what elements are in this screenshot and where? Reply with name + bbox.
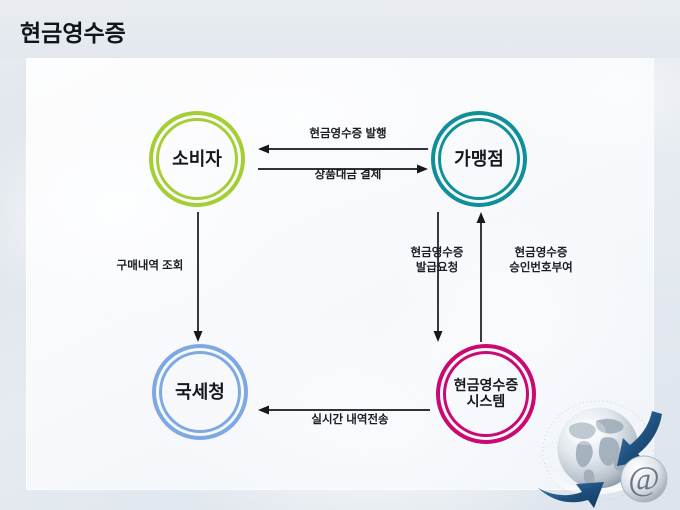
flow-label-realtime: 실시간 내역전송 (275, 413, 425, 428)
page-title: 현금영수증 (20, 14, 126, 48)
node-consumer[interactable]: 소비자 (149, 111, 245, 207)
node-nts[interactable]: 국세청 (152, 344, 248, 440)
node-system[interactable]: 현금영수증 시스템 (436, 344, 536, 444)
node-system-label: 현금영수증 시스템 (454, 378, 518, 409)
flow-label-issue: 현금영수증 발행 (268, 127, 428, 142)
node-merchant-label: 가맹점 (454, 149, 504, 169)
flow-label-payment: 상품대금 결제 (268, 168, 428, 183)
flow-label-inquiry: 구매내역 조회 (95, 259, 205, 274)
node-merchant[interactable]: 가맹점 (431, 111, 527, 207)
node-nts-label: 국세청 (175, 382, 225, 402)
slide-canvas: 현금영수증 소비자 가맹점 국세청 현금영수증 시스템 (0, 0, 680, 510)
flow-label-approve: 현금영수증 승인번호부여 (489, 246, 593, 276)
node-consumer-label: 소비자 (172, 149, 222, 169)
flow-label-request: 현금영수증 발급요청 (385, 246, 489, 276)
